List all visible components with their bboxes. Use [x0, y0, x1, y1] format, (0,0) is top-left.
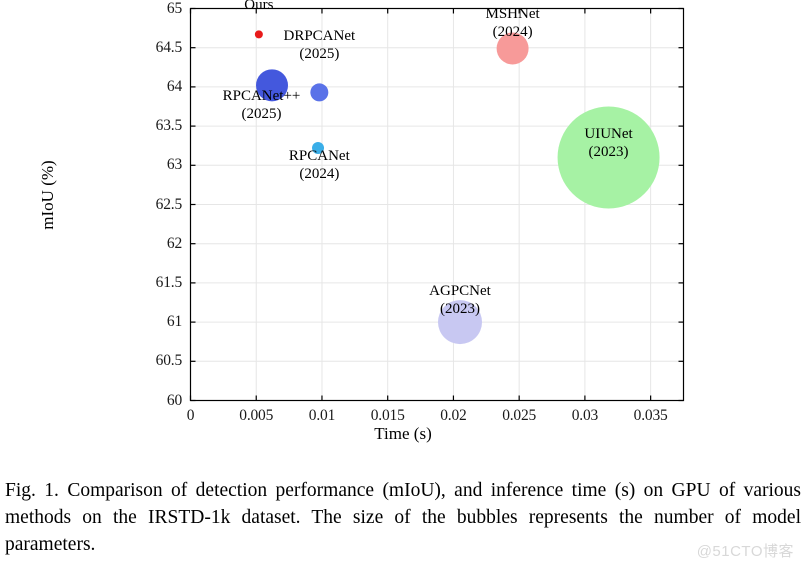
y-axis-title: mIoU (%)	[38, 115, 58, 275]
y-tick-label: 61	[110, 313, 182, 331]
figure-number: Fig. 1.	[5, 480, 59, 501]
bubble-agpcnet	[438, 300, 482, 344]
bubble-ours	[255, 30, 263, 38]
x-tick-label: 0.01	[309, 407, 335, 425]
y-tick-label: 64	[110, 78, 182, 96]
bubble-series	[255, 30, 660, 344]
y-tick-label: 61.5	[110, 274, 182, 292]
y-tick-label: 60	[110, 392, 182, 410]
x-tick-label: 0.025	[502, 407, 536, 425]
bubble-rpcanet	[256, 69, 288, 101]
y-tick-label: 60.5	[110, 352, 182, 370]
x-tick-label: 0.005	[239, 407, 273, 425]
x-axis-title: Time (s)	[0, 424, 806, 444]
x-tick-label: 0.035	[634, 407, 668, 425]
x-tick-label: 0.02	[440, 407, 466, 425]
y-tick-label: 64.5	[110, 39, 182, 57]
figure-caption-text: Comparison of detection performance (mIo…	[5, 480, 801, 555]
bubble-rpcanet	[312, 142, 324, 154]
y-tick-label: 65	[110, 0, 182, 18]
y-tick-label: 62	[110, 235, 182, 253]
y-tick-label: 63	[110, 156, 182, 174]
bubble-uiunet	[558, 106, 660, 208]
x-tick-label: 0.03	[572, 407, 598, 425]
x-tick-label: 0.015	[371, 407, 405, 425]
site-watermark: @51CTO博客	[697, 540, 794, 561]
x-tick-label: 0	[187, 407, 195, 425]
figure-caption: Fig. 1. Comparison of detection performa…	[5, 477, 801, 558]
bubble-drpcanet	[310, 83, 328, 101]
y-tick-label: 62.5	[110, 196, 182, 214]
figure-container: 6060.56161.56262.56363.56464.565 00.0050…	[0, 0, 806, 460]
bubble-mshnet	[497, 32, 529, 64]
y-tick-label: 63.5	[110, 117, 182, 135]
